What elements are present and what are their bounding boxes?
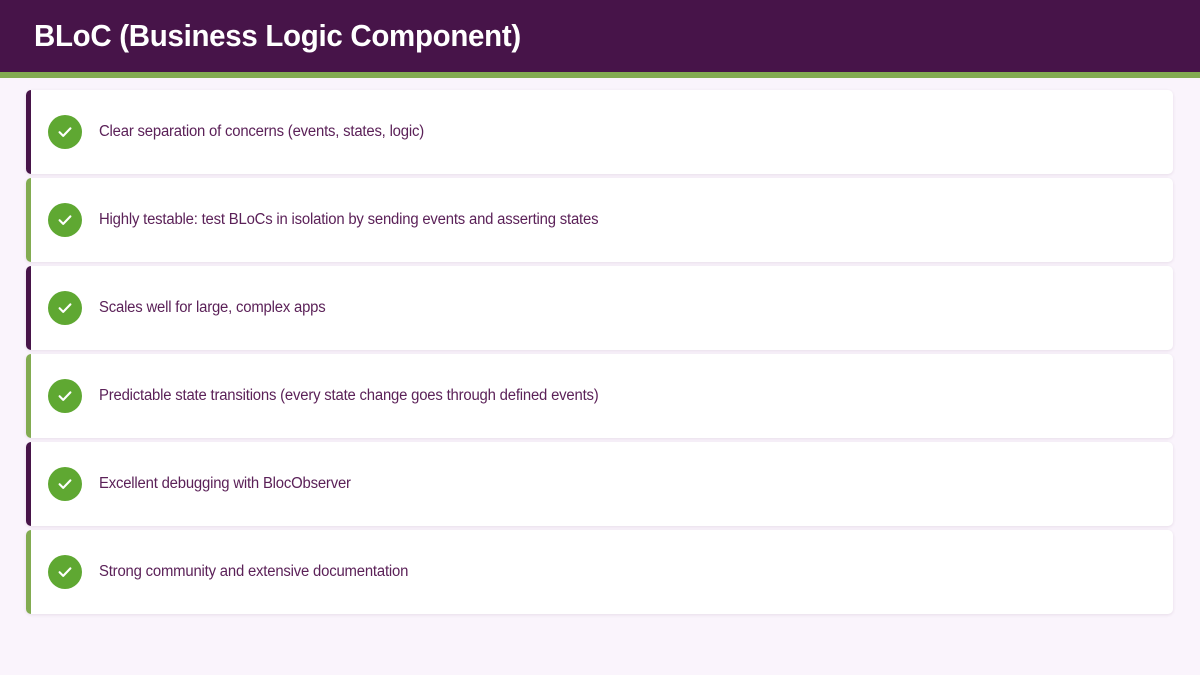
card-accent-bar	[26, 178, 31, 262]
list-item[interactable]: Strong community and extensive documenta…	[26, 530, 1173, 614]
page-title: BLoC (Business Logic Component)	[34, 18, 521, 54]
list-item[interactable]: Highly testable: test BLoCs in isolation…	[26, 178, 1173, 262]
slide-header: BLoC (Business Logic Component)	[0, 0, 1200, 72]
check-circle-icon	[48, 203, 82, 237]
card-accent-bar	[26, 354, 31, 438]
list-item-label: Predictable state transitions (every sta…	[99, 387, 599, 405]
list-item-label: Excellent debugging with BlocObserver	[99, 475, 351, 493]
list-item[interactable]: Clear separation of concerns (events, st…	[26, 90, 1173, 174]
header-accent-bar	[0, 72, 1200, 78]
slide-root: BLoC (Business Logic Component) Clear se…	[0, 0, 1200, 675]
benefits-list: Clear separation of concerns (events, st…	[26, 90, 1173, 618]
card-accent-bar	[26, 90, 31, 174]
card-accent-bar	[26, 530, 31, 614]
check-circle-icon	[48, 379, 82, 413]
list-item-label: Scales well for large, complex apps	[99, 299, 326, 317]
check-circle-icon	[48, 115, 82, 149]
card-accent-bar	[26, 266, 31, 350]
check-circle-icon	[48, 555, 82, 589]
list-item[interactable]: Scales well for large, complex apps	[26, 266, 1173, 350]
card-accent-bar	[26, 442, 31, 526]
list-item[interactable]: Predictable state transitions (every sta…	[26, 354, 1173, 438]
check-circle-icon	[48, 291, 82, 325]
list-item[interactable]: Excellent debugging with BlocObserver	[26, 442, 1173, 526]
list-item-label: Strong community and extensive documenta…	[99, 563, 408, 581]
check-circle-icon	[48, 467, 82, 501]
list-item-label: Highly testable: test BLoCs in isolation…	[99, 211, 598, 229]
list-item-label: Clear separation of concerns (events, st…	[99, 123, 424, 141]
